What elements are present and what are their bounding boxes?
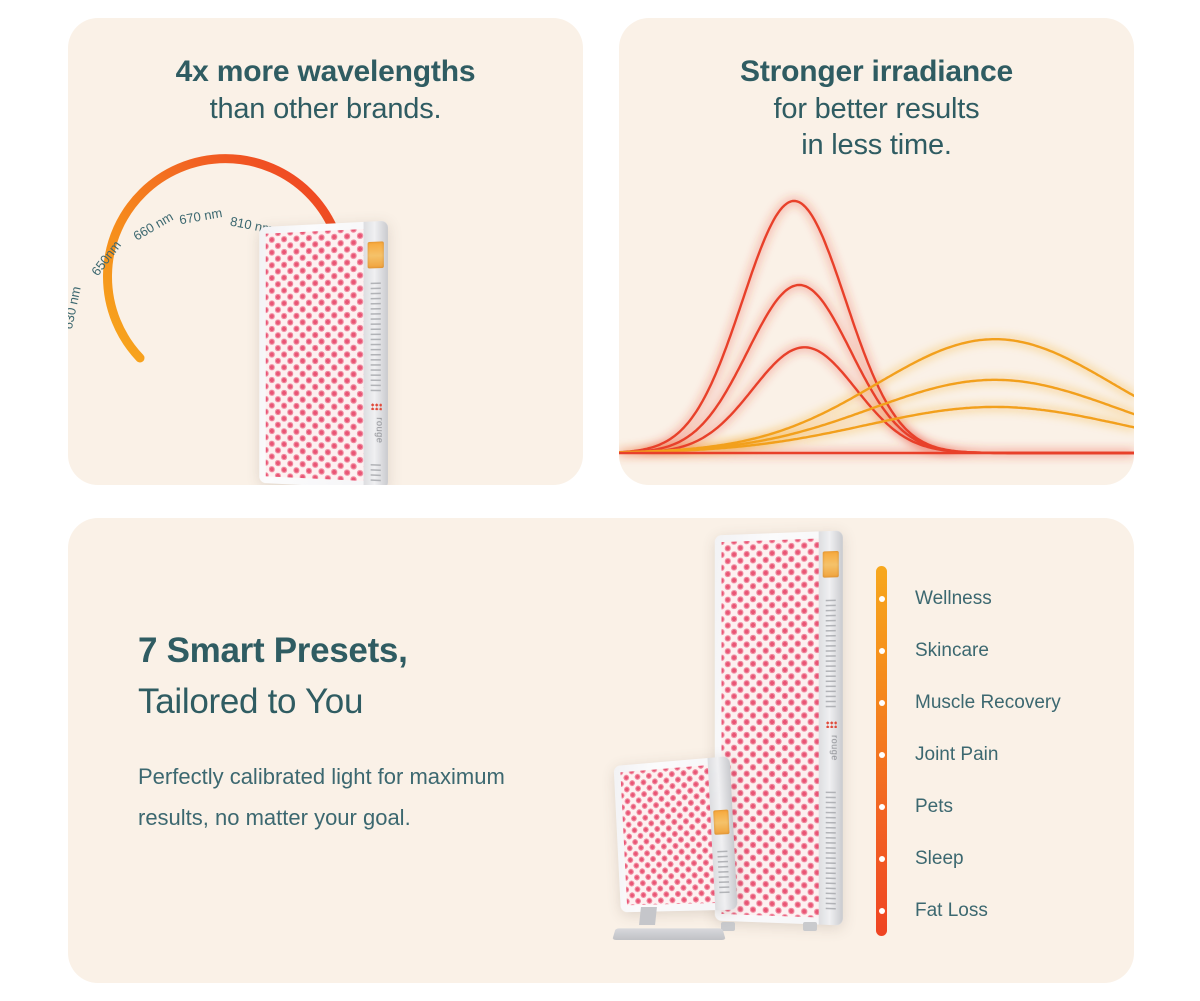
device-vent-large bbox=[826, 600, 836, 711]
device-vent bbox=[371, 282, 381, 394]
device-vent-lower bbox=[371, 464, 381, 485]
device-display-screen bbox=[368, 241, 384, 268]
device-group: rouge bbox=[608, 533, 908, 973]
device-stand-post bbox=[639, 907, 657, 925]
preset-label: Sleep bbox=[915, 848, 964, 870]
preset-label: Fat Loss bbox=[915, 900, 988, 922]
device-display-screen-small bbox=[713, 810, 729, 835]
device-brand-label-large: rouge bbox=[822, 735, 840, 761]
preset-label: Joint Pain bbox=[915, 744, 998, 766]
device-indicator-dots bbox=[371, 403, 382, 410]
irradiance-heading-strong: Stronger irradiance bbox=[619, 54, 1134, 91]
device-tall-panel: rouge bbox=[256, 224, 401, 485]
device-small-panel bbox=[614, 761, 734, 911]
device-side-rail: rouge bbox=[364, 221, 388, 485]
presets-title-strong: 7 Smart Presets, bbox=[138, 631, 408, 670]
card-irradiance: Stronger irradiance for better results i… bbox=[619, 18, 1134, 485]
preset-dot-icon bbox=[879, 596, 885, 602]
irradiance-heading-light-1: for better results bbox=[619, 91, 1134, 128]
presets-body-text: Perfectly calibrated light for maximum r… bbox=[138, 756, 558, 840]
curve-1 bbox=[619, 285, 1134, 453]
preset-label: Pets bbox=[915, 796, 953, 818]
preset-dot-icon bbox=[879, 700, 885, 706]
presets-gradient-track bbox=[876, 566, 887, 936]
presets-text-block: 7 Smart Presets, Tailored to You Perfect… bbox=[138, 626, 558, 839]
device-indicator-dots-large bbox=[826, 721, 837, 728]
wavelengths-heading-light: than other brands. bbox=[68, 91, 583, 128]
device-side-rail-large: rouge bbox=[819, 531, 843, 926]
preset-label: Muscle Recovery bbox=[915, 692, 1061, 714]
curve-3 bbox=[619, 339, 1134, 452]
wavelengths-heading-strong: 4x more wavelengths bbox=[68, 54, 583, 91]
device-vent-large-lower bbox=[826, 792, 836, 913]
device-vent-small bbox=[717, 851, 729, 894]
led-grid-large bbox=[722, 539, 819, 918]
feature-cards-page: 4x more wavelengths than other brands. 6… bbox=[0, 0, 1200, 1001]
wavelength-arc-area: 630 nm650nm660 nm670 nm810 nm830 nm850 n… bbox=[68, 146, 583, 485]
preset-dot-icon bbox=[879, 752, 885, 758]
preset-dot-icon bbox=[879, 648, 885, 654]
irradiance-curves-plot bbox=[619, 168, 1134, 485]
device-display-screen-large bbox=[823, 551, 839, 578]
presets-list: WellnessSkincareMuscle RecoveryJoint Pai… bbox=[876, 566, 1126, 936]
device-foot-right bbox=[803, 922, 817, 931]
preset-dot-icon bbox=[879, 804, 885, 810]
device-stand-base bbox=[612, 928, 726, 940]
preset-label: Wellness bbox=[915, 588, 992, 610]
irradiance-heading-light-2: in less time. bbox=[619, 127, 1134, 164]
preset-label: Skincare bbox=[915, 640, 989, 662]
irradiance-chart bbox=[619, 168, 1134, 485]
presets-title: 7 Smart Presets, Tailored to You bbox=[138, 626, 558, 728]
card-presets: 7 Smart Presets, Tailored to You Perfect… bbox=[68, 518, 1134, 983]
led-grid-small bbox=[620, 765, 715, 905]
device-foot-left bbox=[721, 922, 735, 931]
presets-title-light: Tailored to You bbox=[138, 682, 363, 721]
led-grid bbox=[266, 229, 364, 481]
wavelengths-heading: 4x more wavelengths than other brands. bbox=[68, 18, 583, 127]
device-brand-label: rouge bbox=[367, 417, 385, 444]
curve-0 bbox=[619, 201, 1134, 453]
preset-dot-icon bbox=[879, 908, 885, 914]
irradiance-heading: Stronger irradiance for better results i… bbox=[619, 18, 1134, 164]
preset-dot-icon bbox=[879, 856, 885, 862]
card-wavelengths: 4x more wavelengths than other brands. 6… bbox=[68, 18, 583, 485]
